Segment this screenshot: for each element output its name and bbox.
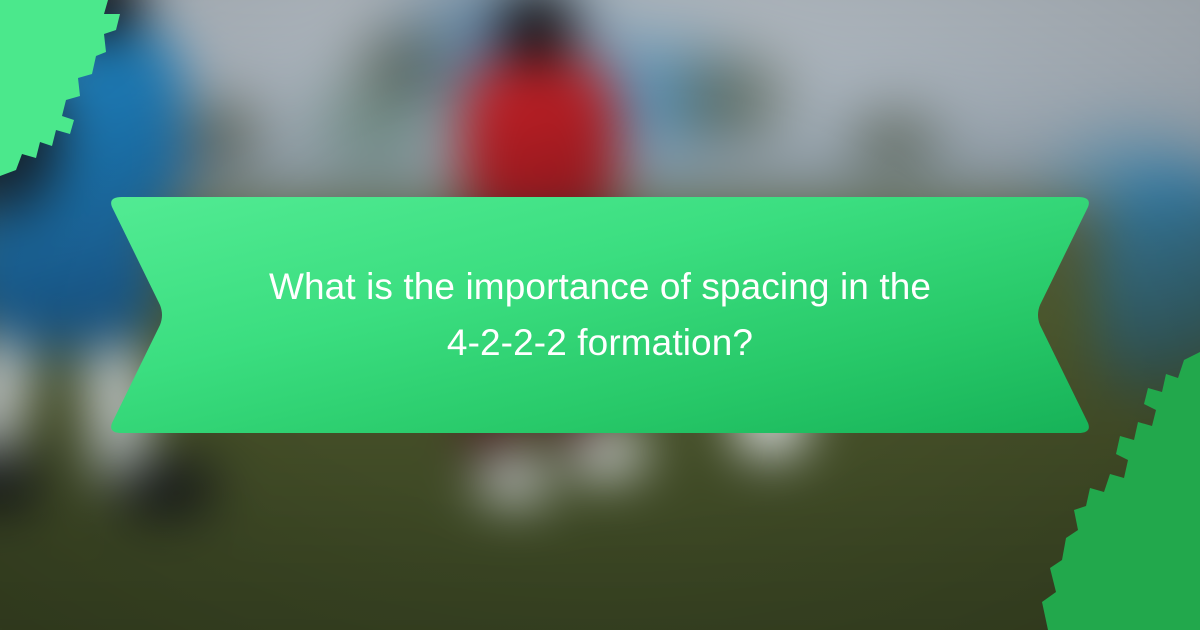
question-banner: What is the importance of spacing in the… [108,197,1092,433]
question-text: What is the importance of spacing in the… [198,197,1002,433]
torn-corner-top-left-path [0,0,120,176]
red-player-head [500,0,574,68]
blue-player-boot-right [116,457,216,520]
quote-card: What is the importance of spacing in the… [0,0,1200,630]
